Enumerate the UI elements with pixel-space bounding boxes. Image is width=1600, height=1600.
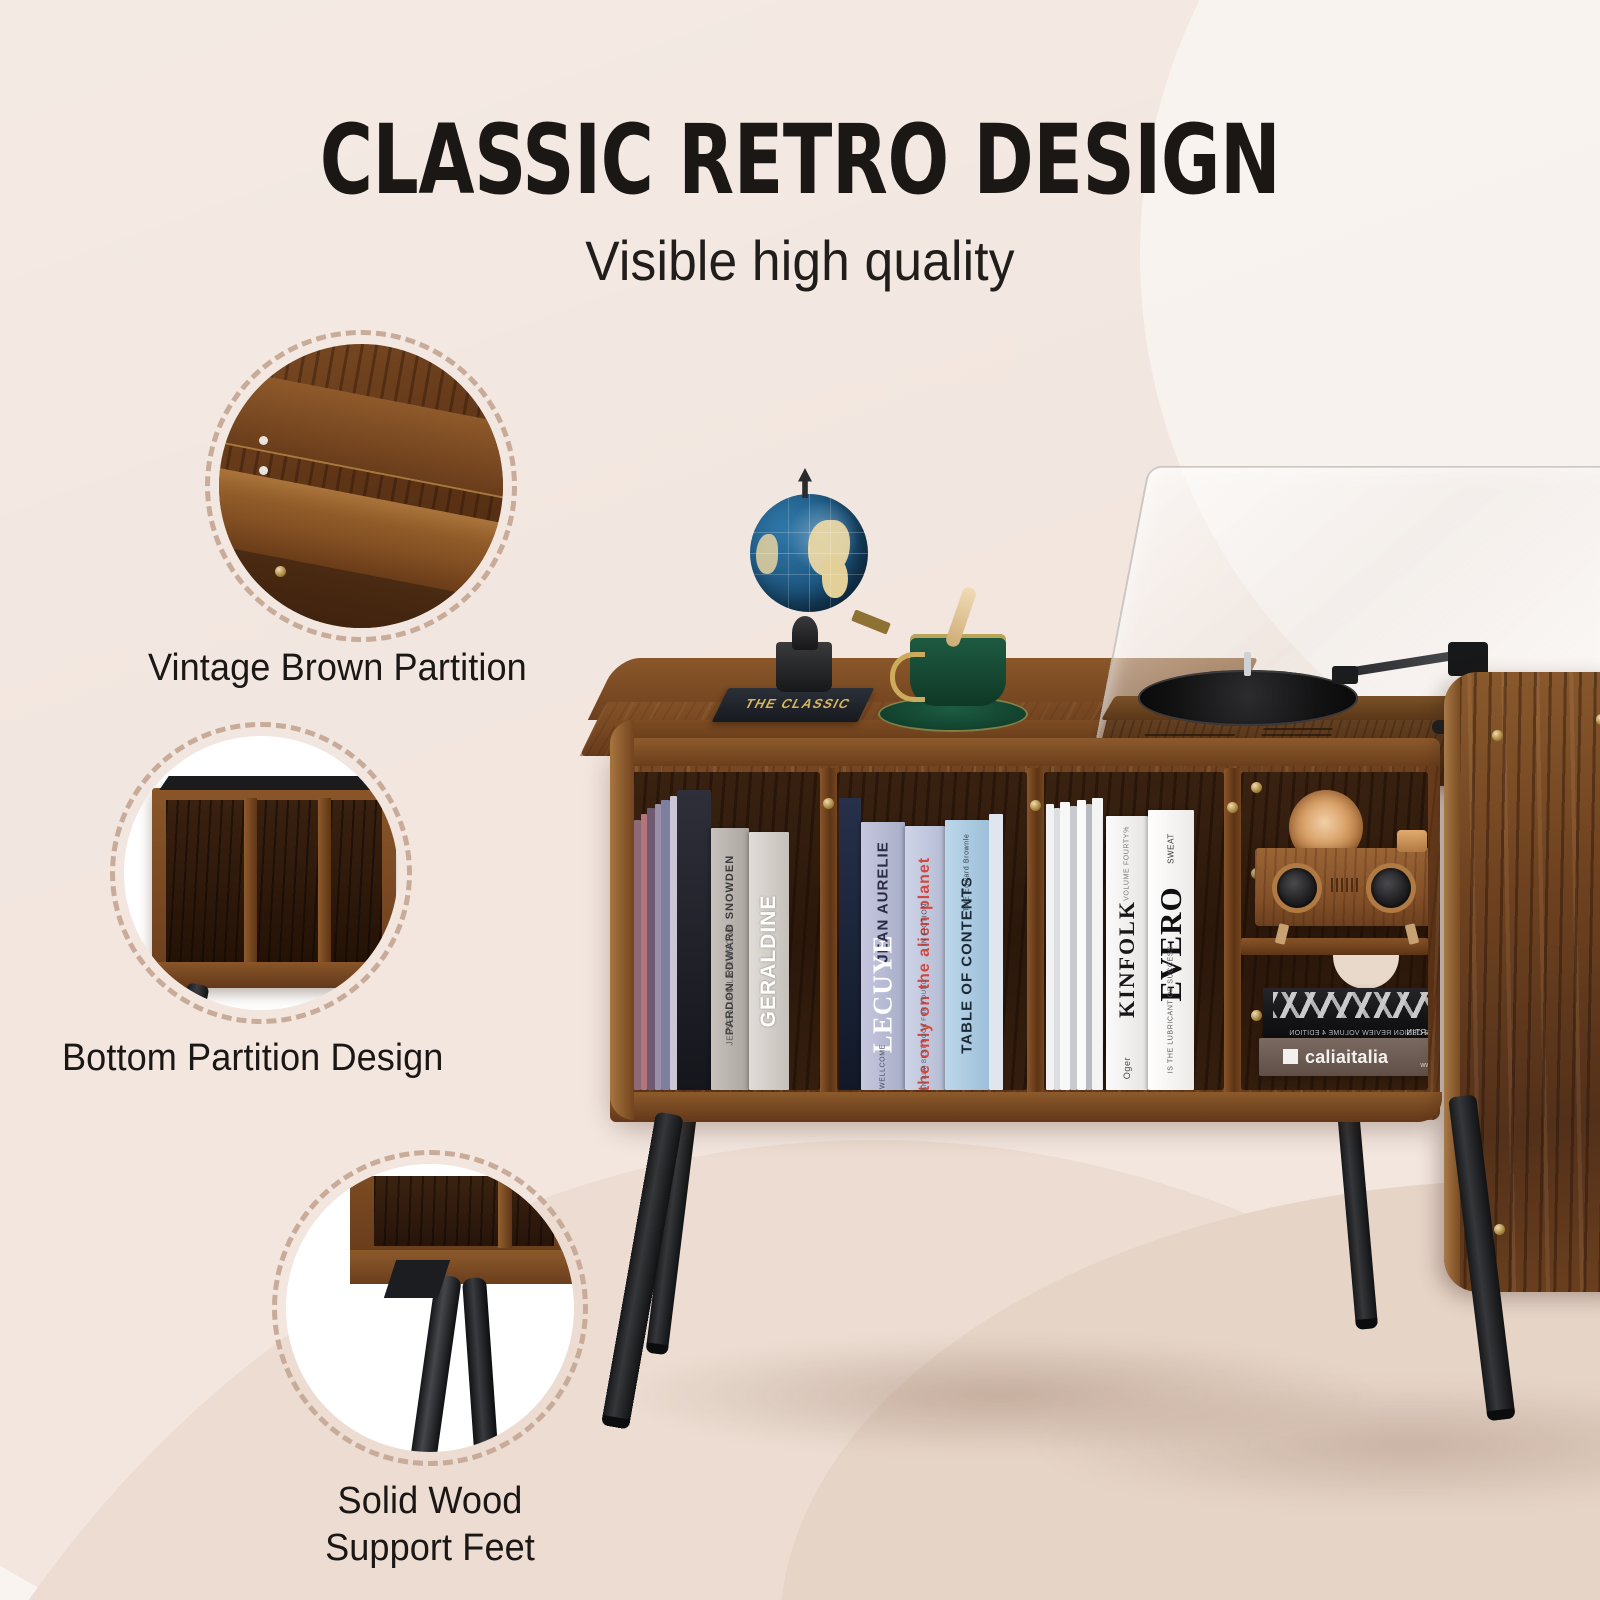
cabinet-divider-2: [1027, 768, 1044, 1094]
feature-label-vintage-brown-partition: Vintage Brown Partition: [148, 645, 527, 692]
book-spine: the only on the alien planet IN FICTION …: [905, 826, 945, 1090]
feature-label-line-2: Support Feet: [259, 1525, 601, 1572]
screw-head-icon: [275, 566, 286, 577]
screw-head-icon: [1227, 802, 1238, 813]
screw-hole-icon: [259, 466, 268, 475]
screw-head-icon: [1251, 1010, 1262, 1021]
book-footer: AN ALM BEST BOOK FOR YOUNG: [922, 979, 928, 1090]
book-footer: WELLCOME: [880, 1044, 887, 1089]
globe-meridian: [830, 494, 831, 612]
book-footer: Oger: [1122, 1056, 1132, 1078]
book-subtitle: IN FICTION: [922, 903, 929, 946]
book-stack-bottom-title: caliaitalia: [1305, 1047, 1388, 1068]
page-subtitle: Visible high quality: [64, 228, 1536, 293]
cabinet-bay-3: KINFOLK VOLUME FOURTY% Oger EVERO SWEAT …: [1044, 772, 1224, 1090]
product-image-record-cabinet: THE CLASSIC: [560, 420, 1600, 1540]
book-stack-bottom-swatch: [1283, 1049, 1298, 1064]
magazine: [1046, 804, 1054, 1090]
book-title: GERALDINE: [757, 895, 781, 1028]
turntable-cartridge-icon: [1332, 666, 1358, 684]
cabinet-front-bottom-rail: [610, 1092, 1442, 1122]
speaker-body: [1255, 848, 1428, 926]
partition-divider: [318, 798, 331, 964]
vinyl-sleeve: [634, 820, 641, 1090]
book-subtitle: VOLUME FOURTY%: [1124, 826, 1131, 901]
screw-hole-icon: [259, 436, 268, 445]
cabinet-interior-dark: [166, 800, 382, 962]
vinyl-sleeve: [839, 798, 861, 1090]
feature-image-solid-wood-support-feet: [286, 1164, 574, 1452]
globe-pedestal: [792, 616, 818, 650]
book-spine: JEAN AURELIE LECUYE WELLCOME: [861, 822, 905, 1090]
book-footer: IS THE LUBRICANT OF SUCCESS: [1168, 946, 1175, 1074]
cabinet-underside-box: [152, 788, 396, 988]
feature-circle-solid-wood-support-feet: [272, 1150, 588, 1466]
cabinet-divider-1: [820, 768, 837, 1094]
cabinet-left-edge: [610, 720, 634, 1120]
screw-head-icon: [1494, 1224, 1505, 1235]
magazine: [1070, 806, 1077, 1090]
magazine: [1060, 802, 1070, 1090]
globe-meridian: [788, 494, 789, 612]
turntable-platter: [1138, 670, 1358, 726]
feature-label-line-1: Solid Wood: [259, 1478, 601, 1525]
book-subtitle: SWEAT: [1167, 833, 1176, 864]
turntable-counterweight-icon: [1448, 642, 1488, 676]
feature-image-vintage-brown-partition: [219, 344, 503, 628]
vinyl-sleeve: [677, 790, 711, 1090]
globe-sphere: [750, 494, 868, 612]
globe-landmass: [822, 556, 848, 598]
cabinet-bottom-edge: [350, 1176, 574, 1284]
book-subtitle: LECUYE: [868, 935, 899, 1054]
book-stack-bottom: caliaitalia www.caliaitalia.com: [1259, 1038, 1428, 1076]
book-spine: PARDON EDWARD SNOWDEN JESSE ALLEN LANE B…: [711, 828, 749, 1090]
book-subtitle: JESSE ALLEN LANE BROWN: [726, 924, 735, 1046]
speaker-waveform-icon: [1331, 878, 1359, 892]
speaker-driver-right: [1371, 868, 1411, 908]
book-stack-top: ANDREW MARTIN INTERIOR DESIGN REVIEW VOL…: [1263, 988, 1428, 1042]
page-title: CLASSIC RETRO DESIGN: [128, 104, 1472, 216]
feature-label-bottom-partition-design: Bottom Partition Design: [62, 1035, 443, 1082]
cabinet-top-inner-lip: [610, 738, 1440, 766]
feature-label-solid-wood-support-feet: Solid Wood Support Feet: [259, 1478, 601, 1572]
speaker-knob-icon: [1397, 830, 1427, 852]
feature-circle-bottom-partition-design: [110, 722, 412, 1024]
book-the-classic-title: THE CLASSIC: [742, 696, 854, 711]
screw-head-icon: [1030, 800, 1041, 811]
cabinet-bottom-rail: [350, 1250, 574, 1284]
turntable-spindle-icon: [1244, 652, 1251, 676]
screw-head-icon: [1492, 730, 1503, 741]
book-stack-bottom-subtitle: www.caliaitalia.com: [1420, 1062, 1428, 1069]
screw-head-icon: [1596, 714, 1600, 725]
globe-arm-icon: [851, 609, 891, 634]
screw-head-icon: [823, 798, 834, 809]
book-stack-top-subtitle: INTERIOR DESIGN REVIEW VOLUME 4 EDITION: [1289, 1030, 1428, 1037]
cabinet-bay-2: JEAN AURELIE LECUYE WELLCOME the only on…: [837, 772, 1027, 1090]
book-subtitle: THE Edward Brownle: [964, 833, 971, 911]
book-spine: KINFOLK VOLUME FOURTY% Oger: [1106, 816, 1148, 1090]
speaker-driver-left: [1277, 868, 1317, 908]
cabinet-carcass: PARDON EDWARD SNOWDEN JESSE ALLEN LANE B…: [610, 738, 1440, 1120]
vinyl-sleeve: [989, 814, 1003, 1090]
screw-head-icon: [1251, 782, 1262, 793]
cabinet-bay-4: ANDREW MARTIN INTERIOR DESIGN REVIEW VOL…: [1241, 772, 1428, 1090]
vinyl-sleeve: [670, 796, 677, 1090]
book-spine: TABLE OF CONTENTS THE Edward Brownle: [945, 820, 989, 1090]
globe-landmass: [756, 534, 778, 574]
cabinet-divider-3: [1224, 768, 1241, 1094]
book-spine: EVERO SWEAT IS THE LUBRICANT OF SUCCESS: [1148, 810, 1194, 1090]
vinyl-sleeve: [661, 800, 670, 1090]
book-spine: GERALDINE: [749, 832, 789, 1090]
side-panel-edge-highlight: [1444, 672, 1460, 1292]
feature-circle-vintage-brown-partition: [205, 330, 517, 642]
magazine: [1077, 800, 1086, 1090]
cabinet-leg: [409, 1274, 462, 1452]
magazine: [1092, 798, 1103, 1090]
cabinet-interior-dark: [374, 1176, 554, 1246]
globe-meridian: [809, 494, 810, 612]
book-title: KINFOLK: [1114, 900, 1140, 1018]
infographic-canvas: CLASSIC RETRO DESIGN Visible high qualit…: [0, 0, 1600, 1600]
cabinet-bay-1: PARDON EDWARD SNOWDEN JESSE ALLEN LANE B…: [632, 772, 820, 1090]
book-cover-pattern: [1273, 992, 1428, 1018]
partition-divider: [244, 798, 257, 964]
cabinet-inner-shelf: [1241, 938, 1428, 955]
cabinet-top-sliver: [159, 776, 398, 790]
feature-image-bottom-partition-design: [124, 736, 398, 1010]
vinyl-sleeve: [647, 808, 655, 1090]
cabinet-leg: [462, 1277, 500, 1452]
partition-divider: [498, 1176, 512, 1248]
